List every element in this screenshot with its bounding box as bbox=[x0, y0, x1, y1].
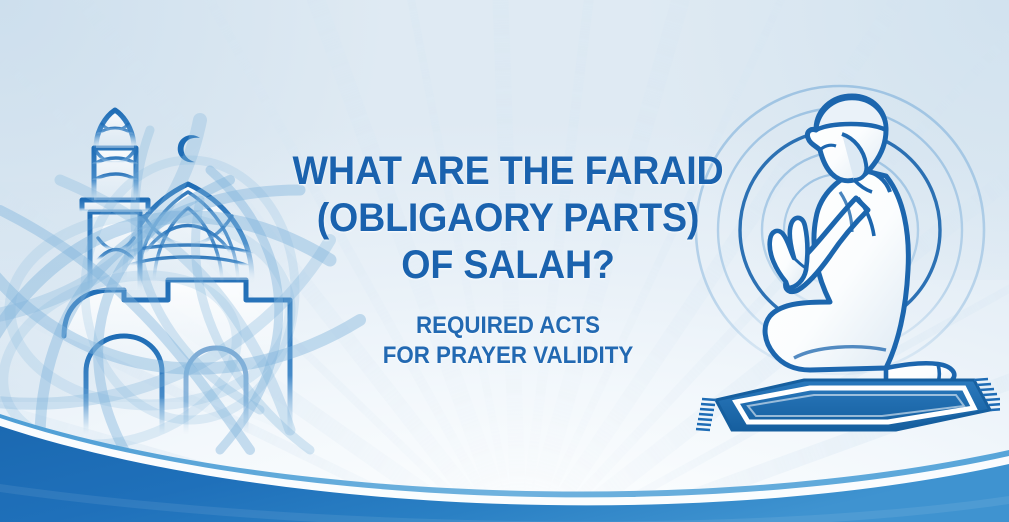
islamic-salah-banner: WHAT ARE THE FARAID (OBLIGAORY PARTS) OF… bbox=[0, 0, 1009, 522]
bottom-wave-decoration bbox=[0, 392, 1009, 522]
title-block: WHAT ARE THE FARAID (OBLIGAORY PARTS) OF… bbox=[268, 148, 748, 371]
page-subtitle: REQUIRED ACTS FOR PRAYER VALIDITY bbox=[285, 311, 731, 371]
subheadline-line-2: FOR PRAYER VALIDITY bbox=[285, 341, 731, 371]
headline-line-1: WHAT ARE THE FARAID bbox=[282, 148, 733, 195]
headline-line-2: (OBLIGAORY PARTS) bbox=[282, 195, 733, 242]
page-title: WHAT ARE THE FARAID (OBLIGAORY PARTS) OF… bbox=[282, 148, 733, 289]
headline-line-3: OF SALAH? bbox=[282, 242, 733, 289]
subheadline-line-1: REQUIRED ACTS bbox=[285, 311, 731, 341]
